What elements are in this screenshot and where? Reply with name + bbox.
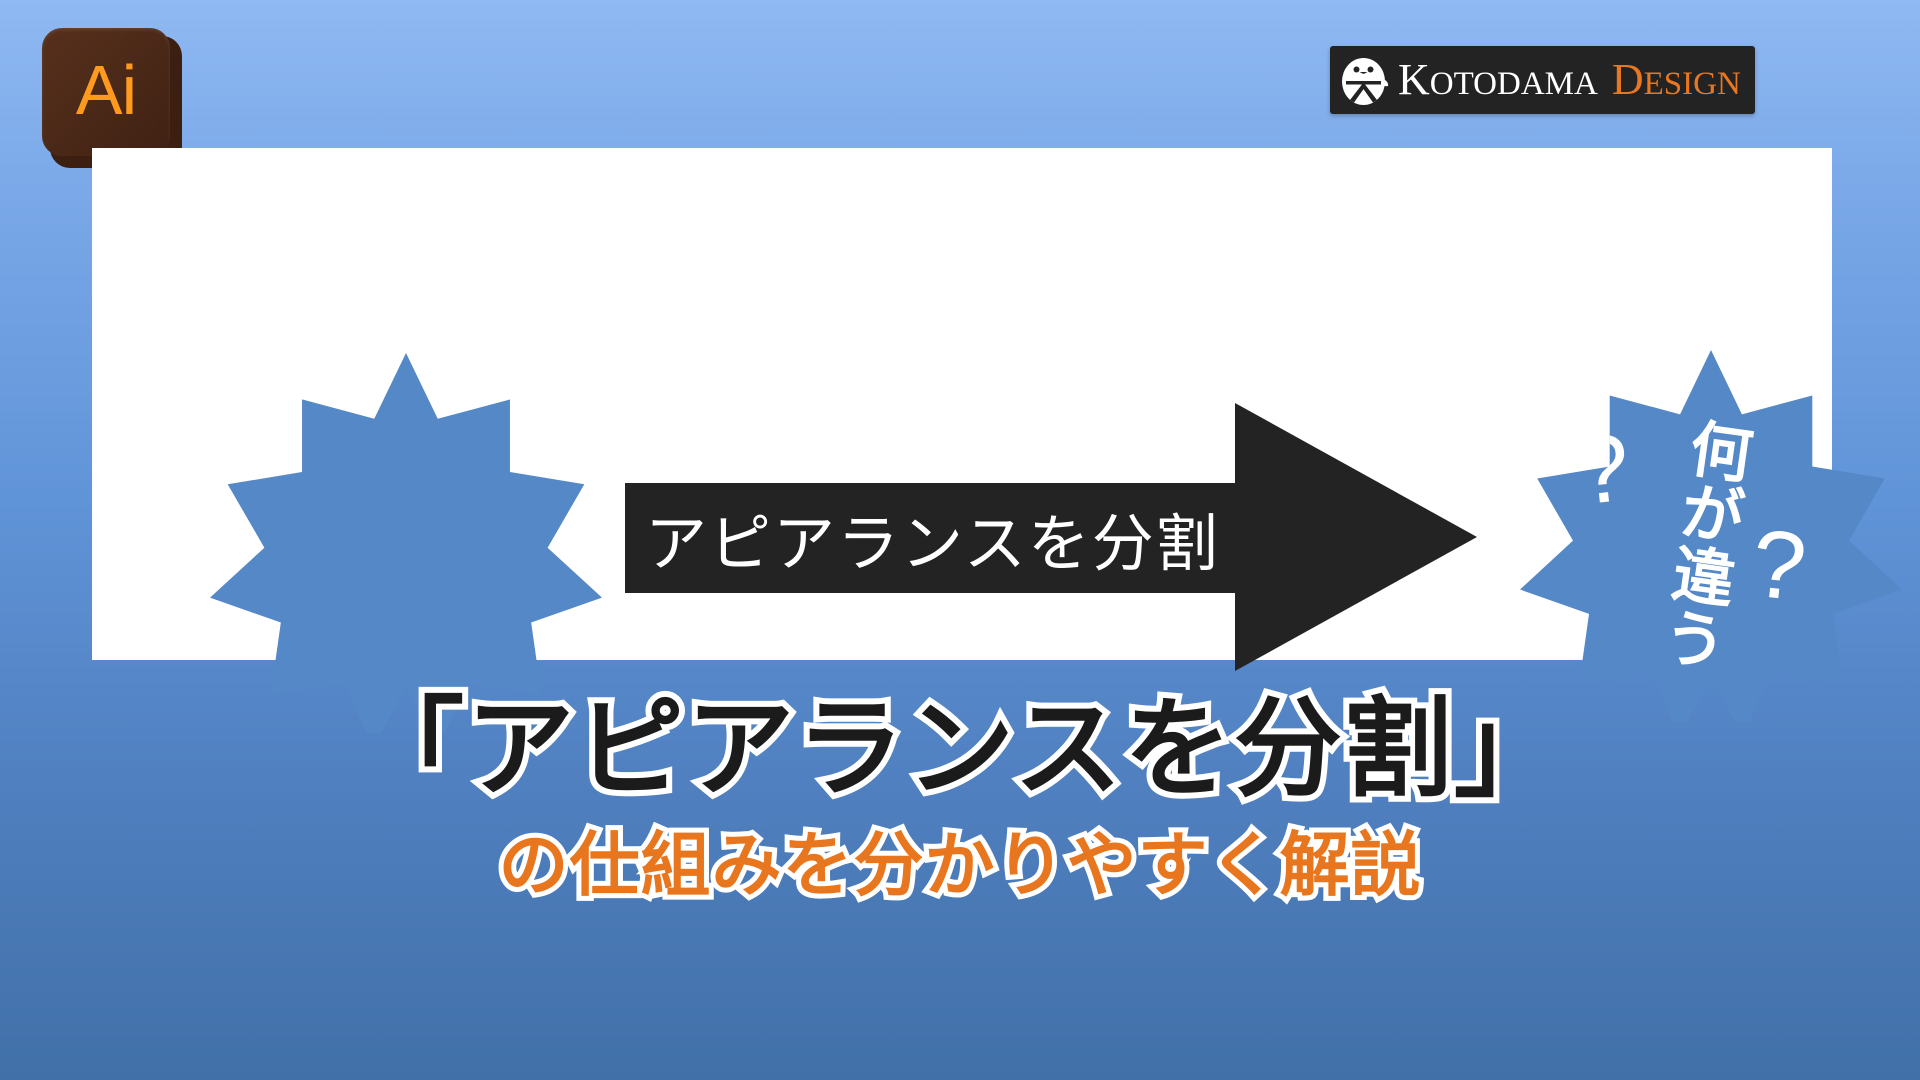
brand-word-kotodama: KOTODAMA — [1398, 58, 1598, 102]
ai-icon-face: Ai — [42, 28, 170, 156]
star-vertical-caption: 何 が 違 う — [1653, 416, 1763, 677]
page-subtitle: の仕組みを分かりやすく解説 — [0, 825, 1920, 906]
illustration-panel: アピアランスを分割 ? ? 何 が 違 う — [92, 148, 1832, 660]
owl-icon — [1340, 54, 1390, 106]
brand-design-rest: ESIGN — [1644, 66, 1741, 102]
process-arrow: アピアランスを分割 — [625, 403, 1477, 671]
ai-icon-label: Ai — [76, 55, 136, 125]
brand-kotodama-initial: K — [1398, 55, 1430, 104]
thumbnail-canvas: Ai KOTODAMA DESIGN アピアランスを分割 ? ? — [0, 0, 1920, 1080]
arrow-head — [1235, 403, 1477, 671]
brand-design-initial: D — [1612, 55, 1644, 104]
star-before — [210, 353, 602, 733]
brand-logo: KOTODAMA DESIGN — [1330, 46, 1755, 114]
page-title: 「アピアランスを分割」 — [0, 690, 1920, 811]
brand-kotodama-rest: OTODAMA — [1430, 66, 1598, 102]
brand-wordmark: KOTODAMA DESIGN — [1398, 58, 1741, 102]
caption-char-4: う — [1653, 604, 1737, 677]
headline-block: 「アピアランスを分割」 の仕組みを分かりやすく解説 — [0, 690, 1920, 905]
brand-word-design: DESIGN — [1612, 58, 1741, 102]
question-mark-right: ? — [1747, 515, 1810, 616]
question-mark-left: ? — [1571, 419, 1634, 520]
adobe-illustrator-icon: Ai — [42, 28, 182, 168]
arrow-label: アピアランスを分割 — [645, 483, 1225, 593]
star-after: ? ? 何 が 違 う — [1520, 350, 1902, 722]
